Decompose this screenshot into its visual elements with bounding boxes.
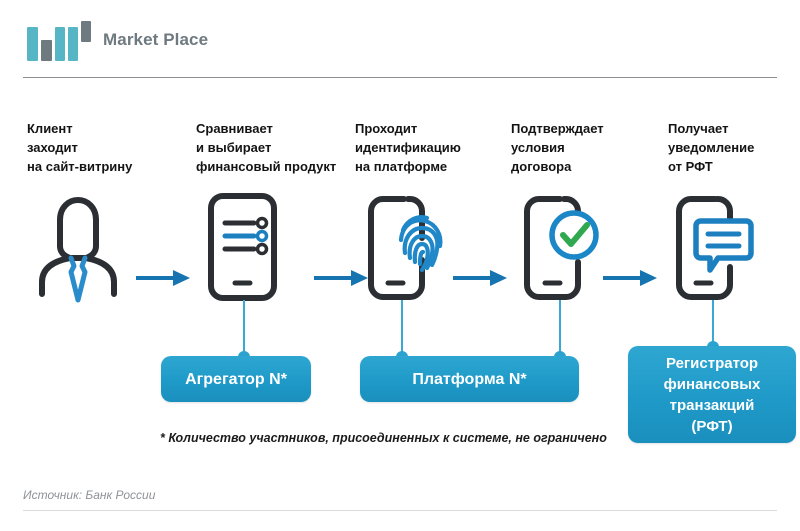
footer-divider	[23, 510, 777, 511]
connector-line-aggregator	[243, 300, 245, 356]
logo-bar-2	[41, 40, 52, 61]
arrow-right-icon	[313, 269, 369, 287]
entity-box-registrar[interactable]: Регистратор финансовых транзакций (РФТ)	[628, 346, 796, 443]
step-caption-notify: Получает уведомление от РФТ	[668, 119, 798, 176]
person-with-tie-icon	[23, 190, 133, 305]
phone-fingerprint-icon	[352, 190, 462, 305]
logo-bar-1	[27, 27, 38, 61]
brand-name: Market Place	[103, 30, 208, 50]
source-text: Источник: Банк России	[23, 488, 155, 502]
entity-box-platform[interactable]: Платформа N*	[360, 356, 579, 402]
phone-message-bubble-icon	[660, 190, 770, 305]
connector-line-platform-right	[559, 300, 561, 356]
phone-check-circle-icon	[510, 190, 620, 305]
step-caption-compare: Сравнивает и выбирает финансовый продукт	[196, 119, 356, 176]
page-header: Market Place	[0, 0, 800, 78]
connector-line-platform-left	[401, 300, 403, 356]
arrow-right-icon	[602, 269, 658, 287]
entity-box-aggregator[interactable]: Агрегатор N*	[161, 356, 311, 402]
step-caption-identify: Проходит идентификацию на платформе	[355, 119, 505, 176]
logo-bar-4	[68, 27, 78, 61]
arrow-right-icon	[452, 269, 508, 287]
footnote-text: * Количество участников, присоединенных …	[160, 431, 607, 445]
step-caption-client: Клиент заходит на сайт-витрину	[27, 119, 177, 176]
logo-bar-3	[55, 27, 65, 61]
header-divider	[23, 77, 777, 78]
bar-chart-logo-icon	[27, 21, 89, 61]
phone-list-selection-icon	[192, 190, 302, 305]
step-caption-confirm: Подтверждает условия договора	[511, 119, 661, 176]
arrow-right-icon	[135, 269, 191, 287]
logo-bar-5	[81, 21, 91, 42]
connector-line-registrar	[712, 300, 714, 346]
